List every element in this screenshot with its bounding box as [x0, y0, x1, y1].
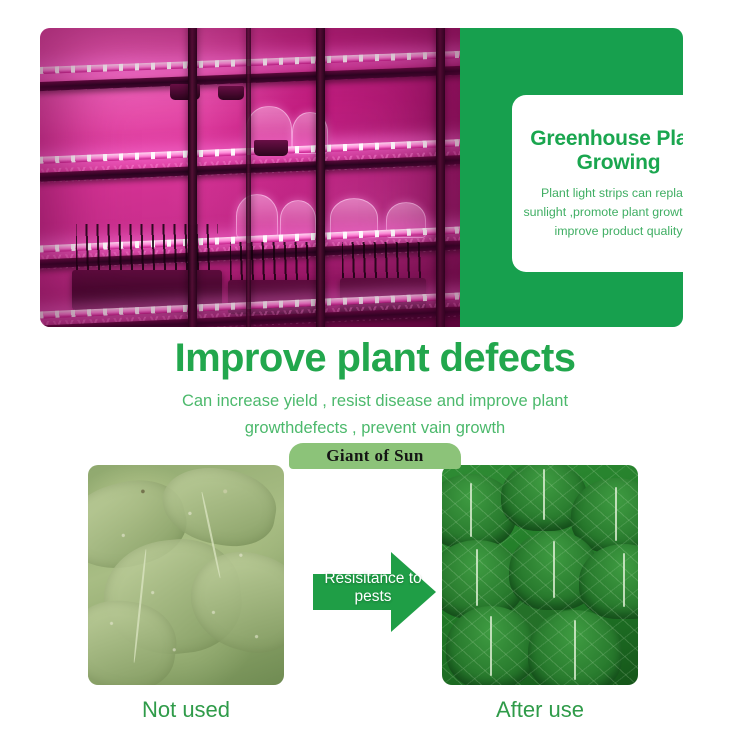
before-photo	[88, 465, 284, 685]
unhealthy-leaves-illustration	[88, 465, 284, 685]
info-card: Greenhouse Plant Growing Plant light str…	[512, 95, 683, 272]
after-caption: After use	[442, 697, 638, 723]
arrow-label: Resisitance to pests	[303, 570, 443, 607]
brand-badge-label: Giant of Sun	[326, 446, 423, 466]
info-card-body: Plant light strips can replace sunlight …	[522, 184, 683, 240]
grow-room-photo	[40, 28, 460, 327]
after-photo	[442, 465, 638, 685]
arrow-label-line-2: pests	[303, 588, 443, 606]
page-subtitle: Can increase yield , resist disease and …	[0, 388, 750, 441]
product-infographic: Greenhouse Plant Growing Plant light str…	[0, 0, 750, 750]
green-info-panel: Greenhouse Plant Growing Plant light str…	[460, 28, 683, 327]
brand-badge: Giant of Sun	[289, 443, 461, 469]
subtitle-line-1: Can increase yield , resist disease and …	[0, 388, 750, 415]
before-caption: Not used	[88, 697, 284, 723]
subtitle-line-2: growthdefects , prevent vain growth	[0, 415, 750, 442]
info-card-title: Greenhouse Plant Growing	[522, 127, 683, 176]
arrow-label-line-1: Resisitance to	[303, 570, 443, 588]
page-title: Improve plant defects	[0, 336, 750, 381]
leaf-damage-spots	[88, 465, 284, 685]
leaf-vein-texture	[442, 465, 638, 685]
healthy-leaves-illustration	[442, 465, 638, 685]
hero-banner: Greenhouse Plant Growing Plant light str…	[40, 28, 683, 327]
photo-vignette	[40, 28, 460, 327]
